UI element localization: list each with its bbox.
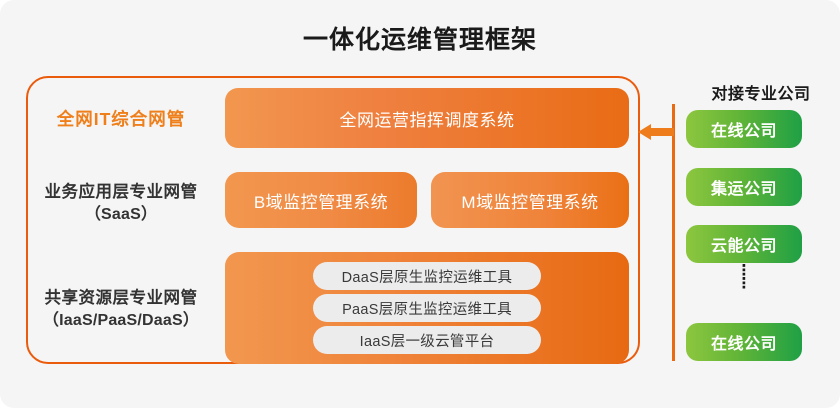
- layer-label-main: 业务应用层专业网管: [28, 182, 214, 204]
- diagram-canvas: 一体化运维管理框架 全网IT综合网管 业务应用层专业网管 （SaaS） 共享资源…: [0, 0, 840, 408]
- pill-daas-tool[interactable]: DaaS层原生监控运维工具: [313, 262, 541, 290]
- layer-label-main: 共享资源层专业网管: [28, 288, 214, 310]
- connector-vertical-line: [672, 104, 675, 361]
- pill-paas-tool[interactable]: PaaS层原生监控运维工具: [313, 294, 541, 322]
- company-box-jiyun[interactable]: 集运公司: [686, 168, 802, 206]
- right-panel-title: 对接专业公司: [686, 80, 836, 104]
- layer-label-iaas-paas-daas: 共享资源层专业网管 （IaaS/PaaS/DaaS）: [28, 288, 214, 331]
- pill-iaas-platform[interactable]: IaaS层一级云管平台: [313, 326, 541, 354]
- vertical-ellipsis-icon: ⋮ ⋮: [686, 264, 802, 290]
- layer-label-it-management: 全网IT综合网管: [28, 108, 214, 131]
- layer-label-sub: （SaaS）: [28, 204, 214, 225]
- ellipsis-bottom: ⋮: [686, 277, 802, 290]
- page-title: 一体化运维管理框架: [0, 20, 840, 56]
- layer-label-saas: 业务应用层专业网管 （SaaS）: [28, 182, 214, 225]
- company-box-online-1[interactable]: 在线公司: [686, 110, 802, 148]
- shared-resource-layer-container: DaaS层原生监控运维工具 PaaS层原生监控运维工具 IaaS层一级云管平台: [225, 252, 629, 364]
- box-b-domain-monitoring[interactable]: B域监控管理系统: [225, 172, 417, 228]
- connector-arrow-shaft: [650, 128, 674, 136]
- company-box-online-2[interactable]: 在线公司: [686, 323, 802, 361]
- left-arrow-icon: [638, 124, 651, 140]
- layer-label-sub: （IaaS/PaaS/DaaS）: [28, 310, 214, 331]
- box-operations-command-system[interactable]: 全网运营指挥调度系统: [225, 88, 629, 148]
- layer-label-main: 全网IT综合网管: [28, 108, 214, 131]
- box-m-domain-monitoring[interactable]: M域监控管理系统: [431, 172, 629, 228]
- company-box-yunneng[interactable]: 云能公司: [686, 225, 802, 263]
